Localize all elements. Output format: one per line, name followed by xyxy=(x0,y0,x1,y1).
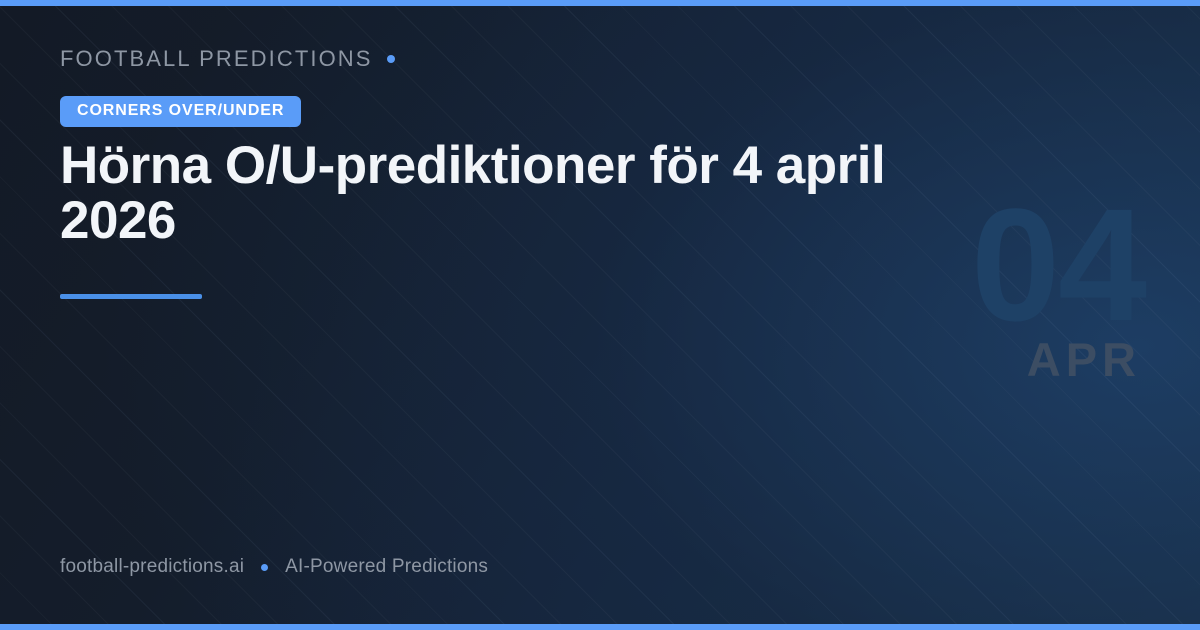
footer-tagline: AI-Powered Predictions xyxy=(285,556,488,578)
top-accent-bar xyxy=(0,0,1200,6)
footer-site-label[interactable]: football-predictions.ai xyxy=(60,556,244,578)
category-badge[interactable]: CORNERS OVER/UNDER xyxy=(60,96,301,127)
og-card: 04 APR FOOTBALL PREDICTIONS CORNERS OVER… xyxy=(0,0,1200,630)
date-day: 04 xyxy=(971,196,1145,334)
kicker: FOOTBALL PREDICTIONS xyxy=(60,46,395,72)
accent-divider xyxy=(60,294,202,299)
date-block: 04 APR xyxy=(971,196,1145,383)
page-title: Hörna O/U-prediktioner för 4 april 2026 xyxy=(60,138,960,248)
content-area: FOOTBALL PREDICTIONS CORNERS OVER/UNDER … xyxy=(60,0,990,630)
dot-icon xyxy=(261,564,268,571)
bottom-accent-bar xyxy=(0,624,1200,630)
kicker-label: FOOTBALL PREDICTIONS xyxy=(60,46,373,72)
dot-icon xyxy=(387,55,395,63)
footer: football-predictions.ai AI-Powered Predi… xyxy=(60,556,488,578)
